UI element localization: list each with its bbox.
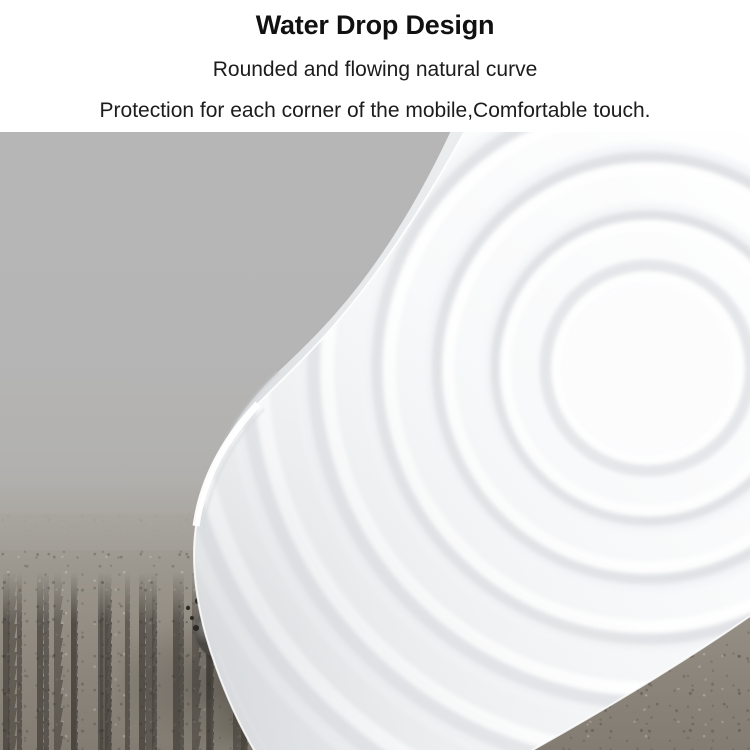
phone-case-product <box>0 132 750 750</box>
case-ambient-shading <box>0 132 750 750</box>
product-banner: Water Drop Design Rounded and flowing na… <box>0 0 750 750</box>
subtitle-line-1: Rounded and flowing natural curve <box>0 58 750 82</box>
page-title: Water Drop Design <box>0 10 750 41</box>
text-header: Water Drop Design Rounded and flowing na… <box>0 0 750 132</box>
case-body <box>0 132 750 750</box>
product-scene <box>0 132 750 750</box>
subtitle-line-2: Protection for each corner of the mobile… <box>0 99 750 123</box>
